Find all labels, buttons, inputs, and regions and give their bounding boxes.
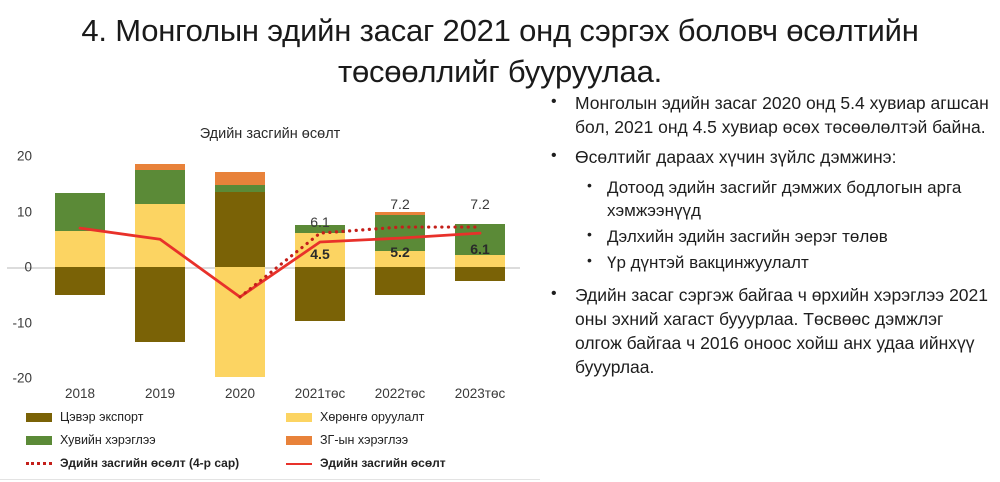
chart-title: Эдийн засгийн өсөлт [0,126,540,142]
legend-label: Хувийн хэрэглээ [60,433,156,447]
legend-row: Цэвэр экспортХөрөнгө оруулалт [18,410,538,433]
legend-swatch-icon [286,436,312,445]
legend-item[interactable]: Хөрөнгө оруулалт [286,410,424,424]
bullet-text-panel: Монголын эдийн засаг 2020 онд 5.4 хувиар… [545,92,995,386]
legend-label: Цэвэр экспорт [60,410,143,424]
legend-item[interactable]: Хувийн хэрэглээ [26,433,156,447]
x-axis-tick: 2019 [145,386,175,401]
line-series-growth_april [240,227,480,297]
chart-legend: Цэвэр экспортХөрөнгө оруулалтХувийн хэрэ… [18,410,538,479]
bullet-item-1: Монголын эдийн засаг 2020 онд 5.4 хувиар… [545,92,995,140]
bullet-item-2-label: Өсөлтийг дараах хүчин зүйлс дэмжинэ: [575,147,896,167]
legend-item[interactable]: ЗГ-ын хэрэглээ [286,433,408,447]
legend-item[interactable]: Эдийн засгийн өсөлт [286,456,446,470]
y-axis-tick: 0 [24,260,32,275]
slide-root: 4. Монголын эдийн засаг 2021 онд сэргэх … [0,0,1000,482]
y-axis-tick: 20 [17,149,32,164]
legend-label: Эдийн засгийн өсөлт (4-р сар) [60,456,239,470]
y-axis-tick: -20 [12,371,32,386]
legend-divider [0,479,540,480]
legend-swatch-icon [286,413,312,422]
bullet-sub-2: Дэлхийн эдийн засгийн эерэг төлөв [575,226,995,249]
y-axis-tick: 10 [17,204,32,219]
legend-row: Хувийн хэрэглээЗГ-ын хэрэглээ [18,433,538,456]
legend-row: Эдийн засгийн өсөлт (4-р сар)Эдийн засги… [18,456,538,479]
page-title: 4. Монголын эдийн засаг 2021 онд сэргэх … [60,10,940,92]
legend-label: ЗГ-ын хэрэглээ [320,433,408,447]
chart-plot-area: 20100-10-20 6.14.57.25.27.26.1 201820192… [40,156,520,378]
legend-item[interactable]: Цэвэр экспорт [26,410,143,424]
legend-line-icon [26,462,52,465]
x-axis-tick: 2022төс [375,386,425,401]
legend-label: Эдийн засгийн өсөлт [320,456,446,470]
legend-swatch-icon [26,436,52,445]
x-axis-tick: 2020 [225,386,255,401]
line-series-growth [80,228,480,297]
legend-swatch-icon [26,413,52,422]
bullet-item-2: Өсөлтийг дараах хүчин зүйлс дэмжинэ: Дот… [545,146,995,275]
line-series-overlay [40,156,520,378]
x-axis-tick: 2023төс [455,386,505,401]
x-axis-tick: 2018 [65,386,95,401]
y-axis-tick: -10 [12,315,32,330]
legend-item[interactable]: Эдийн засгийн өсөлт (4-р сар) [26,456,239,470]
legend-label: Хөрөнгө оруулалт [320,410,424,424]
bullet-sub-1: Дотоод эдийн засгийг дэмжих бодлогын арг… [575,177,995,223]
legend-line-icon [286,463,312,465]
bullet-item-3: Эдийн засаг сэргэж байгаа ч өрхийн хэрэг… [545,284,995,379]
bullet-sub-3: Үр дүнтэй вакцинжуулалт [575,252,995,275]
x-axis-tick: 2021төс [295,386,345,401]
